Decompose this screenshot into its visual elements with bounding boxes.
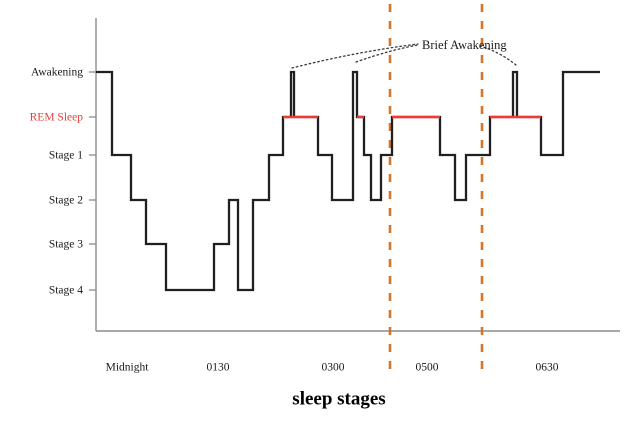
sleep-stage-trace [96,72,600,290]
y-axis-label-awakening: Awakening [31,67,83,79]
y-axis-label-stage-2: Stage 2 [49,195,83,207]
x-axis-label-midnight: Midnight [106,362,150,374]
x-axis-label-0500: 0500 [416,362,439,374]
chart-title: sleep stages [292,388,385,409]
x-axis-label-0300: 0300 [322,362,345,374]
y-axis-labels: AwakeningREM SleepStage 1Stage 2Stage 3S… [30,67,84,297]
leader-line-spike-2 [356,45,418,62]
x-axis-label-0130: 0130 [207,362,230,374]
y-axis-label-stage-3: Stage 3 [49,239,83,251]
vertical-marker-lines [390,4,482,378]
y-axis-label-rem-sleep: REM Sleep [30,112,84,124]
x-axis-labels: Midnight0130030005000630 [106,362,559,374]
y-axis-label-stage-4: Stage 4 [49,285,83,297]
hypnogram-plot: AwakeningREM SleepStage 1Stage 2Stage 3S… [0,0,635,425]
sleep-stages-chart: AwakeningREM SleepStage 1Stage 2Stage 3S… [0,0,635,425]
brief-awakening-annotation: Brief Awakening [422,38,507,52]
leader-line-spike-1 [292,44,418,68]
y-axis-ticks [89,72,96,290]
axes-group [96,18,620,331]
x-axis-label-0630: 0630 [536,362,559,374]
y-axis-label-stage-1: Stage 1 [49,150,83,162]
